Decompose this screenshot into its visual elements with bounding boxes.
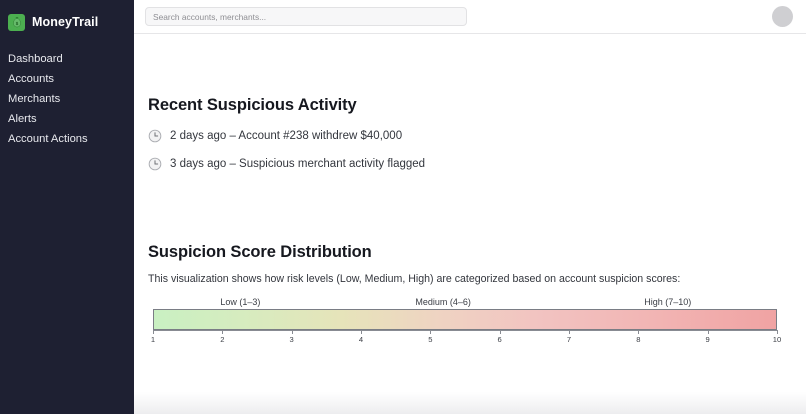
content-area: Recent Suspicious Activity 2 days ago – … — [134, 34, 806, 414]
axis-tick — [361, 330, 362, 334]
axis-tick-label: 1 — [151, 335, 155, 344]
page-title-distribution: Suspicion Score Distribution — [148, 243, 790, 262]
distribution-description: This visualization shows how risk levels… — [148, 273, 790, 285]
money-bag-glyph: $ — [11, 16, 23, 28]
sidebar-item-merchants[interactable]: Merchants — [0, 89, 134, 109]
sidebar: $ MoneyTrail Dashboard Accounts Merchant… — [0, 0, 134, 414]
clock-icon — [148, 129, 162, 143]
scale-axis: 1 2 3 4 5 6 7 8 9 10 — [153, 330, 777, 346]
sidebar-nav: Dashboard Accounts Merchants Alerts Acco… — [0, 49, 134, 149]
gradient-bar — [153, 309, 777, 330]
axis-tick-label: 6 — [498, 335, 502, 344]
scale-band-labels: Low (1–3) Medium (4–6) High (7–10) — [153, 297, 777, 309]
band-label-high: High (7–10) — [644, 297, 691, 307]
axis-line — [153, 330, 777, 331]
axis-tick-label: 9 — [706, 335, 710, 344]
page-title-activity: Recent Suspicious Activity — [148, 96, 790, 115]
axis-tick — [638, 330, 639, 334]
axis-tick-label: 5 — [428, 335, 432, 344]
sidebar-item-dashboard[interactable]: Dashboard — [0, 49, 134, 69]
brand-name: MoneyTrail — [32, 15, 98, 29]
main-column: Recent Suspicious Activity 2 days ago – … — [134, 0, 806, 414]
brand[interactable]: $ MoneyTrail — [0, 9, 134, 35]
axis-tick — [153, 330, 154, 334]
activity-list: 2 days ago – Account #238 withdrew $40,0… — [148, 129, 790, 171]
band-label-low: Low (1–3) — [220, 297, 260, 307]
sidebar-item-account-actions[interactable]: Account Actions — [0, 129, 134, 149]
list-item[interactable]: 2 days ago – Account #238 withdrew $40,0… — [148, 129, 790, 143]
avatar[interactable] — [772, 6, 793, 27]
sidebar-item-alerts[interactable]: Alerts — [0, 109, 134, 129]
clock-icon — [148, 157, 162, 171]
band-label-medium: Medium (4–6) — [415, 297, 471, 307]
recent-activity-section: Recent Suspicious Activity 2 days ago – … — [148, 96, 790, 171]
search-input[interactable] — [145, 7, 467, 26]
list-item[interactable]: 3 days ago – Suspicious merchant activit… — [148, 157, 790, 171]
axis-tick — [708, 330, 709, 334]
axis-tick-label: 10 — [773, 335, 781, 344]
axis-tick-label: 3 — [290, 335, 294, 344]
activity-item-text: 2 days ago – Account #238 withdrew $40,0… — [170, 130, 402, 142]
money-bag-icon: $ — [8, 14, 25, 31]
bottom-fade — [134, 392, 806, 414]
suspicion-distribution-section: Suspicion Score Distribution This visual… — [148, 243, 790, 346]
axis-tick-label: 4 — [359, 335, 363, 344]
activity-item-text: 3 days ago – Suspicious merchant activit… — [170, 158, 425, 170]
axis-tick-label: 2 — [220, 335, 224, 344]
suspicion-scale-chart: Low (1–3) Medium (4–6) High (7–10) — [153, 297, 777, 346]
axis-tick-label: 8 — [636, 335, 640, 344]
axis-tick — [430, 330, 431, 334]
axis-tick — [222, 330, 223, 334]
axis-tick — [292, 330, 293, 334]
axis-tick — [569, 330, 570, 334]
app-root: $ MoneyTrail Dashboard Accounts Merchant… — [0, 0, 806, 414]
axis-tick — [777, 330, 778, 334]
sidebar-item-accounts[interactable]: Accounts — [0, 69, 134, 89]
axis-tick-label: 7 — [567, 335, 571, 344]
top-bar — [134, 0, 806, 34]
axis-tick — [500, 330, 501, 334]
